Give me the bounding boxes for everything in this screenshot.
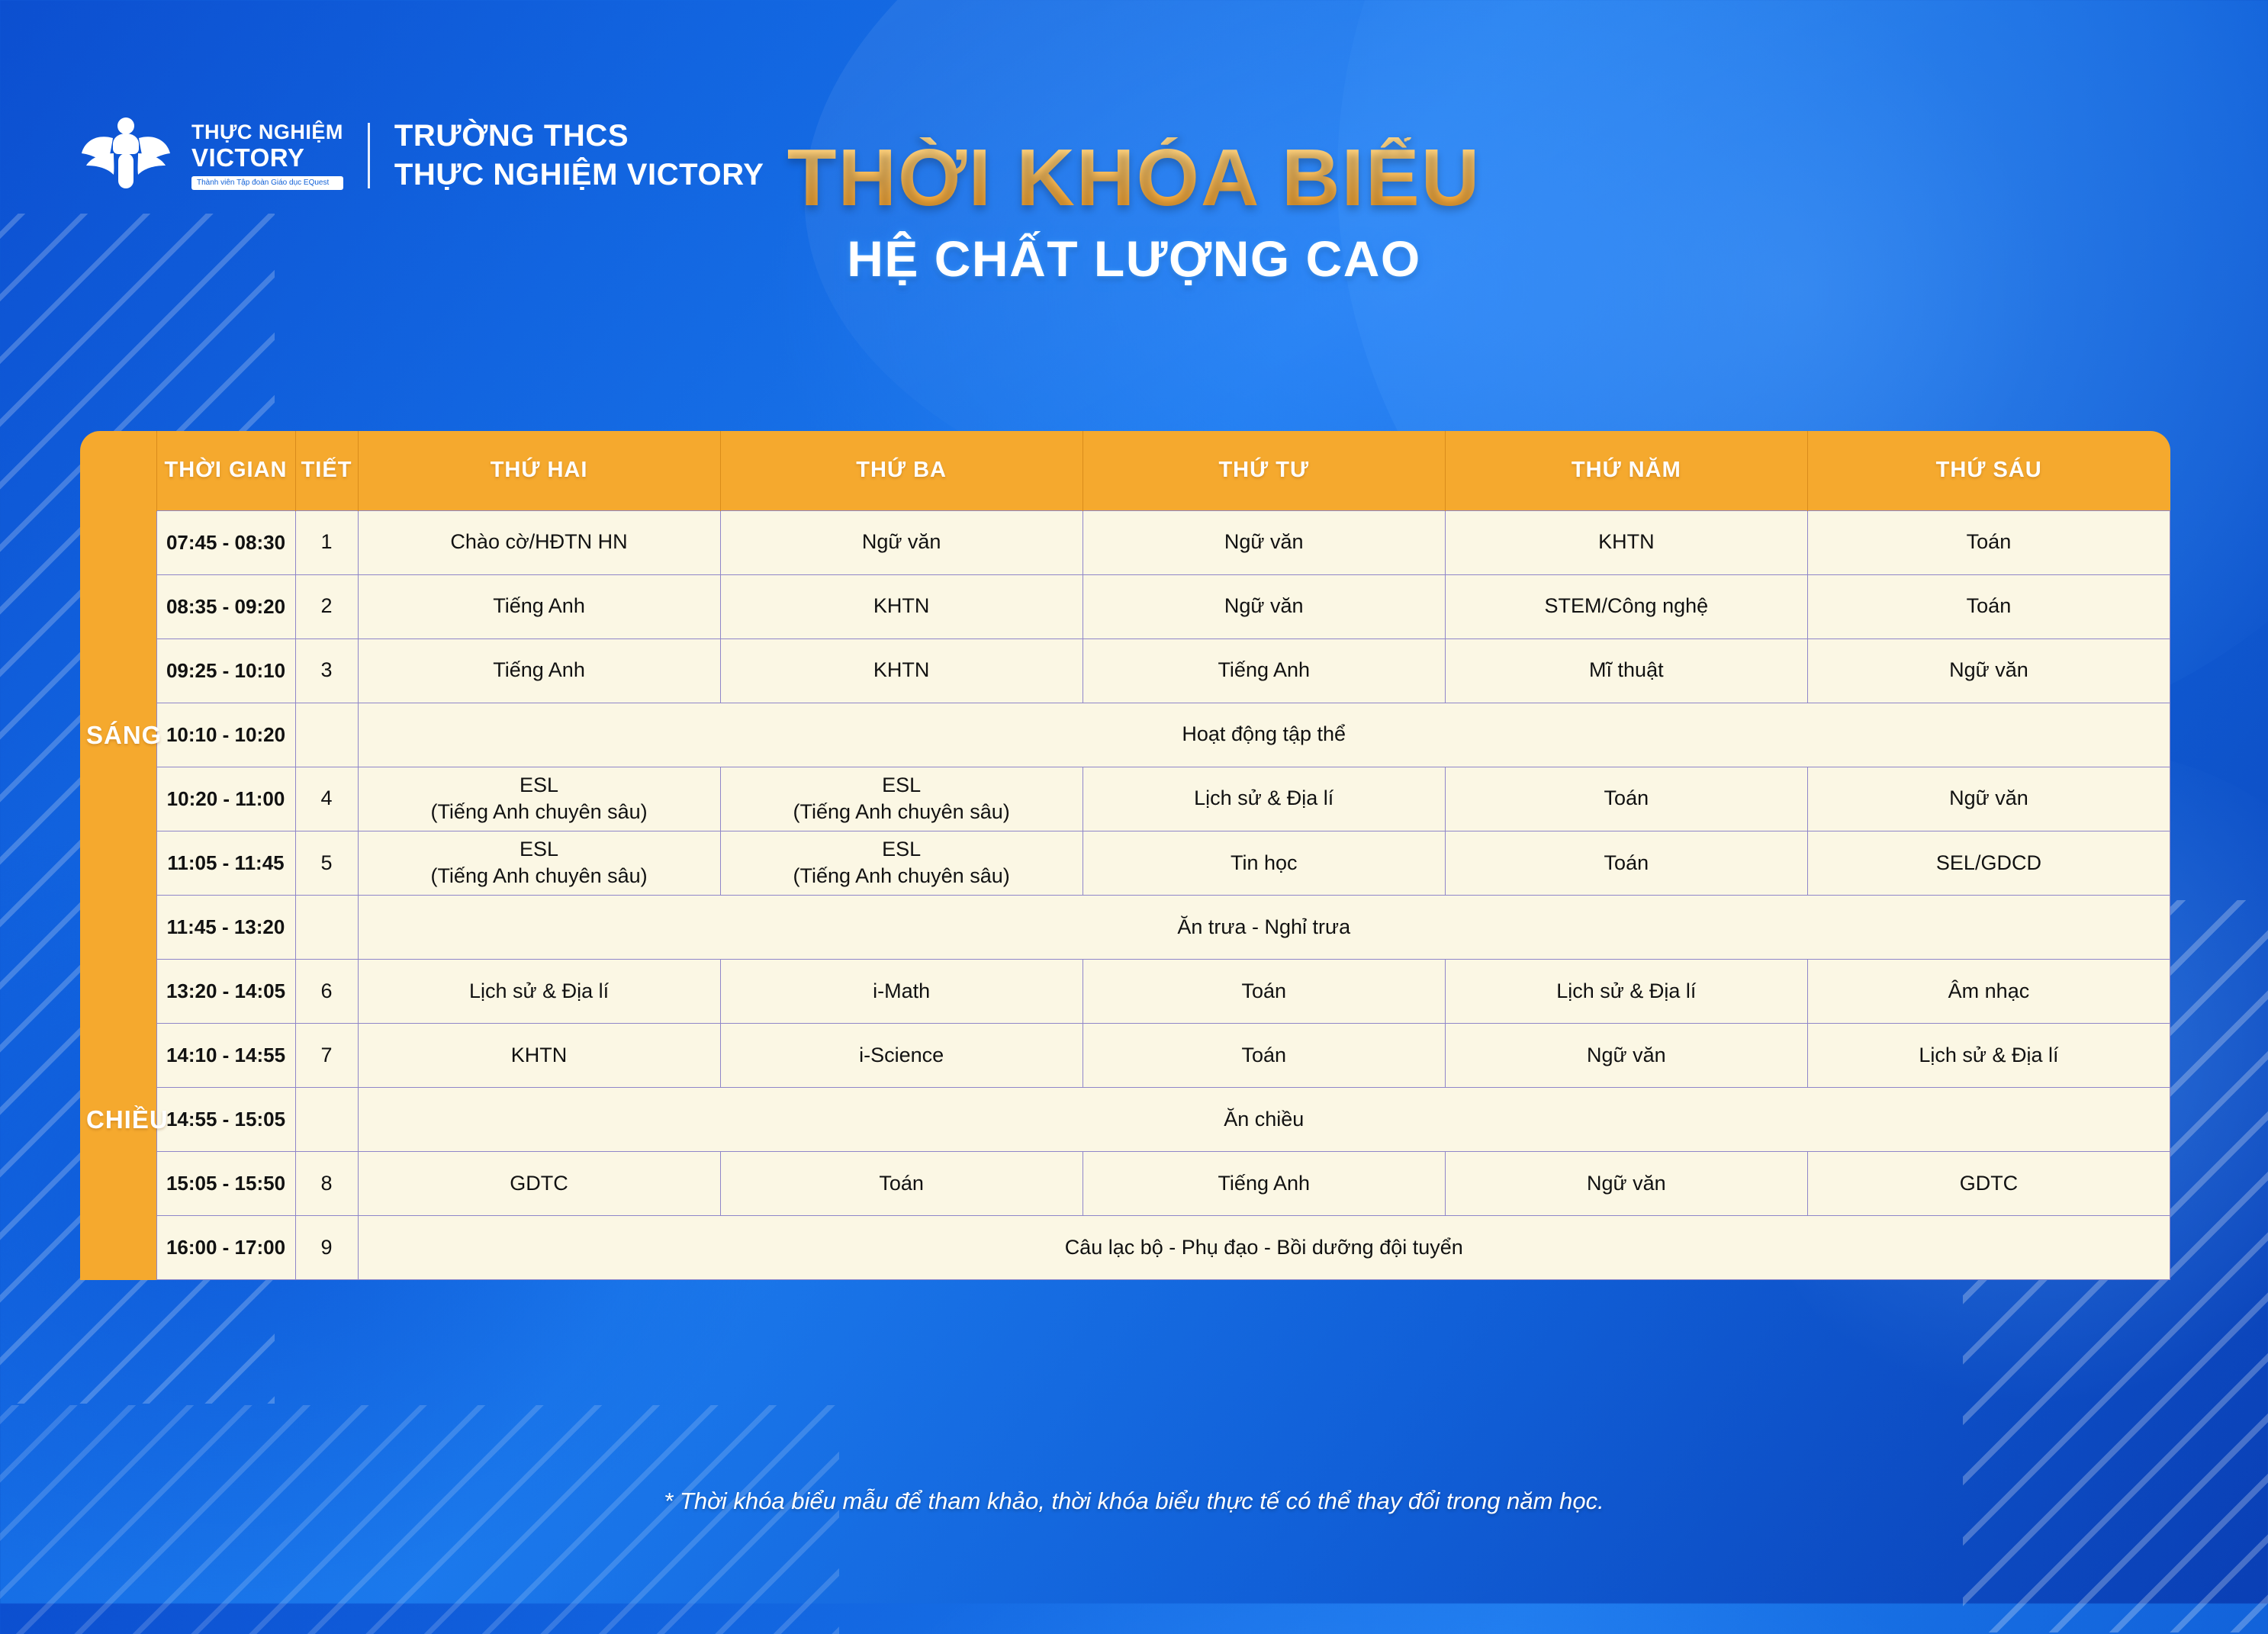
diagonal-stripes-bottom: [0, 1405, 839, 1634]
cell-subject: Ngữ văn: [1083, 574, 1445, 638]
cell-time: 11:45 - 13:20: [156, 896, 295, 960]
header-thoi-gian: THỜI GIAN: [156, 431, 295, 510]
header-thu-nam: THỨ NĂM: [1445, 431, 1807, 510]
cell-full-width-activity: Ăn chiều: [358, 1088, 2170, 1152]
cell-subject: Chào cờ/HĐTN HN: [358, 510, 720, 574]
cell-subject: ESL(Tiếng Anh chuyên sâu): [720, 767, 1083, 831]
cell-subject: Tiếng Anh: [1083, 1152, 1445, 1216]
header-thu-sau: THỨ SÁU: [1807, 431, 2170, 510]
table-row: 15:05 - 15:508GDTCToánTiếng AnhNgữ vănGD…: [80, 1152, 2170, 1216]
table-row: 11:45 - 13:20Ăn trưa - Nghỉ trưa: [80, 896, 2170, 960]
footer-note: * Thời khóa biểu mẫu để tham khảo, thời …: [0, 1486, 2268, 1517]
cell-period: [295, 703, 358, 767]
cell-full-width-activity: Hoạt động tập thể: [358, 703, 2170, 767]
cell-subject: KHTN: [720, 638, 1083, 703]
cell-subject: GDTC: [358, 1152, 720, 1216]
session-label-chiều: CHIỀU: [80, 960, 156, 1280]
cell-subject: Toán: [1083, 1024, 1445, 1088]
header-thu-tu: THỨ TƯ: [1083, 431, 1445, 510]
cell-period: 9: [295, 1216, 358, 1280]
title-block: THỜI KHÓA BIỂU HỆ CHẤT LƯỢNG CAO: [0, 137, 2268, 284]
cell-time: 10:20 - 11:00: [156, 767, 295, 831]
cell-subject: Lịch sử & Địa lí: [358, 960, 720, 1024]
cell-subject: Âm nhạc: [1807, 960, 2170, 1024]
table-body: SÁNG07:45 - 08:301Chào cờ/HĐTN HNNgữ văn…: [80, 510, 2170, 1280]
cell-subject: Tiếng Anh: [358, 574, 720, 638]
table-row: 10:20 - 11:004ESL(Tiếng Anh chuyên sâu)E…: [80, 767, 2170, 831]
cell-subject: Lịch sử & Địa lí: [1083, 767, 1445, 831]
header-thu-ba: THỨ BA: [720, 431, 1083, 510]
cell-subject: Toán: [1445, 831, 1807, 895]
table-row: CHIỀU13:20 - 14:056Lịch sử & Địa líi-Mat…: [80, 960, 2170, 1024]
cell-full-width-activity: Ăn trưa - Nghỉ trưa: [358, 896, 2170, 960]
page-title: THỜI KHÓA BIỂU: [0, 137, 2268, 223]
cell-time: 14:55 - 15:05: [156, 1088, 295, 1152]
cell-subject: Ngữ văn: [1807, 767, 2170, 831]
cell-subject: Mĩ thuật: [1445, 638, 1807, 703]
cell-subject: Ngữ văn: [1083, 510, 1445, 574]
table-header-row: THỜI GIAN TIẾT THỨ HAI THỨ BA THỨ TƯ THỨ…: [80, 431, 2170, 510]
header-thu-hai: THỨ HAI: [358, 431, 720, 510]
cell-time: 15:05 - 15:50: [156, 1152, 295, 1216]
cell-subject: Ngữ văn: [1807, 638, 2170, 703]
cell-subject: GDTC: [1807, 1152, 2170, 1216]
cell-time: 08:35 - 09:20: [156, 574, 295, 638]
table-row: SÁNG07:45 - 08:301Chào cờ/HĐTN HNNgữ văn…: [80, 510, 2170, 574]
cell-time: 09:25 - 10:10: [156, 638, 295, 703]
cell-subject: i-Science: [720, 1024, 1083, 1088]
cell-period: 2: [295, 574, 358, 638]
cell-subject: ESL(Tiếng Anh chuyên sâu): [358, 767, 720, 831]
cell-subject: Ngữ văn: [720, 510, 1083, 574]
cell-subject: Toán: [1445, 767, 1807, 831]
cell-full-width-activity: Câu lạc bộ - Phụ đạo - Bồi dưỡng đội tuy…: [358, 1216, 2170, 1280]
cell-period: [295, 896, 358, 960]
cell-time: 14:10 - 14:55: [156, 1024, 295, 1088]
cell-period: 4: [295, 767, 358, 831]
cell-subject: Toán: [1807, 574, 2170, 638]
table-row: 14:55 - 15:05Ăn chiều: [80, 1088, 2170, 1152]
cell-period: 6: [295, 960, 358, 1024]
table-row: 08:35 - 09:202Tiếng AnhKHTNNgữ vănSTEM/C…: [80, 574, 2170, 638]
cell-period: 7: [295, 1024, 358, 1088]
cell-subject: Tiếng Anh: [358, 638, 720, 703]
cell-subject: KHTN: [358, 1024, 720, 1088]
cell-subject: ESL(Tiếng Anh chuyên sâu): [358, 831, 720, 895]
cell-subject: SEL/GDCD: [1807, 831, 2170, 895]
cell-subject: Ngữ văn: [1445, 1152, 1807, 1216]
table-row: 11:05 - 11:455ESL(Tiếng Anh chuyên sâu)E…: [80, 831, 2170, 895]
page-subtitle: HỆ CHẤT LƯỢNG CAO: [0, 233, 2268, 284]
table-header: THỜI GIAN TIẾT THỨ HAI THỨ BA THỨ TƯ THỨ…: [80, 431, 2170, 510]
cell-time: 07:45 - 08:30: [156, 510, 295, 574]
table-row: 16:00 - 17:009Câu lạc bộ - Phụ đạo - Bồi…: [80, 1216, 2170, 1280]
cell-time: 13:20 - 14:05: [156, 960, 295, 1024]
cell-period: 8: [295, 1152, 358, 1216]
table-row: 14:10 - 14:557KHTNi-ScienceToánNgữ vănLị…: [80, 1024, 2170, 1088]
cell-period: [295, 1088, 358, 1152]
table-row: 09:25 - 10:103Tiếng AnhKHTNTiếng AnhMĩ t…: [80, 638, 2170, 703]
cell-period: 5: [295, 831, 358, 895]
cell-subject: Toán: [1083, 960, 1445, 1024]
header-session-spacer: [80, 431, 156, 510]
schedule-table: THỜI GIAN TIẾT THỨ HAI THỨ BA THỨ TƯ THỨ…: [80, 431, 2170, 1280]
cell-subject: Tiếng Anh: [1083, 638, 1445, 703]
cell-subject: Lịch sử & Địa lí: [1807, 1024, 2170, 1088]
cell-subject: Lịch sử & Địa lí: [1445, 960, 1807, 1024]
cell-subject: STEM/Công nghệ: [1445, 574, 1807, 638]
header-tiet: TIẾT: [295, 431, 358, 510]
cell-subject: ESL(Tiếng Anh chuyên sâu): [720, 831, 1083, 895]
session-label-sáng: SÁNG: [80, 510, 156, 960]
schedule-table-wrapper: THỜI GIAN TIẾT THỨ HAI THỨ BA THỨ TƯ THỨ…: [80, 431, 2170, 1280]
cell-subject: KHTN: [720, 574, 1083, 638]
page-header: THỰC NGHIỆM VICTORY Thành viên Tập đoàn …: [0, 0, 2268, 229]
cell-subject: KHTN: [1445, 510, 1807, 574]
cell-time: 16:00 - 17:00: [156, 1216, 295, 1280]
cell-subject: Toán: [720, 1152, 1083, 1216]
cell-period: 1: [295, 510, 358, 574]
cell-subject: Toán: [1807, 510, 2170, 574]
cell-period: 3: [295, 638, 358, 703]
cell-subject: Ngữ văn: [1445, 1024, 1807, 1088]
cell-time: 11:05 - 11:45: [156, 831, 295, 895]
cell-subject: i-Math: [720, 960, 1083, 1024]
cell-time: 10:10 - 10:20: [156, 703, 295, 767]
table-row: 10:10 - 10:20Hoạt động tập thể: [80, 703, 2170, 767]
cell-subject: Tin học: [1083, 831, 1445, 895]
